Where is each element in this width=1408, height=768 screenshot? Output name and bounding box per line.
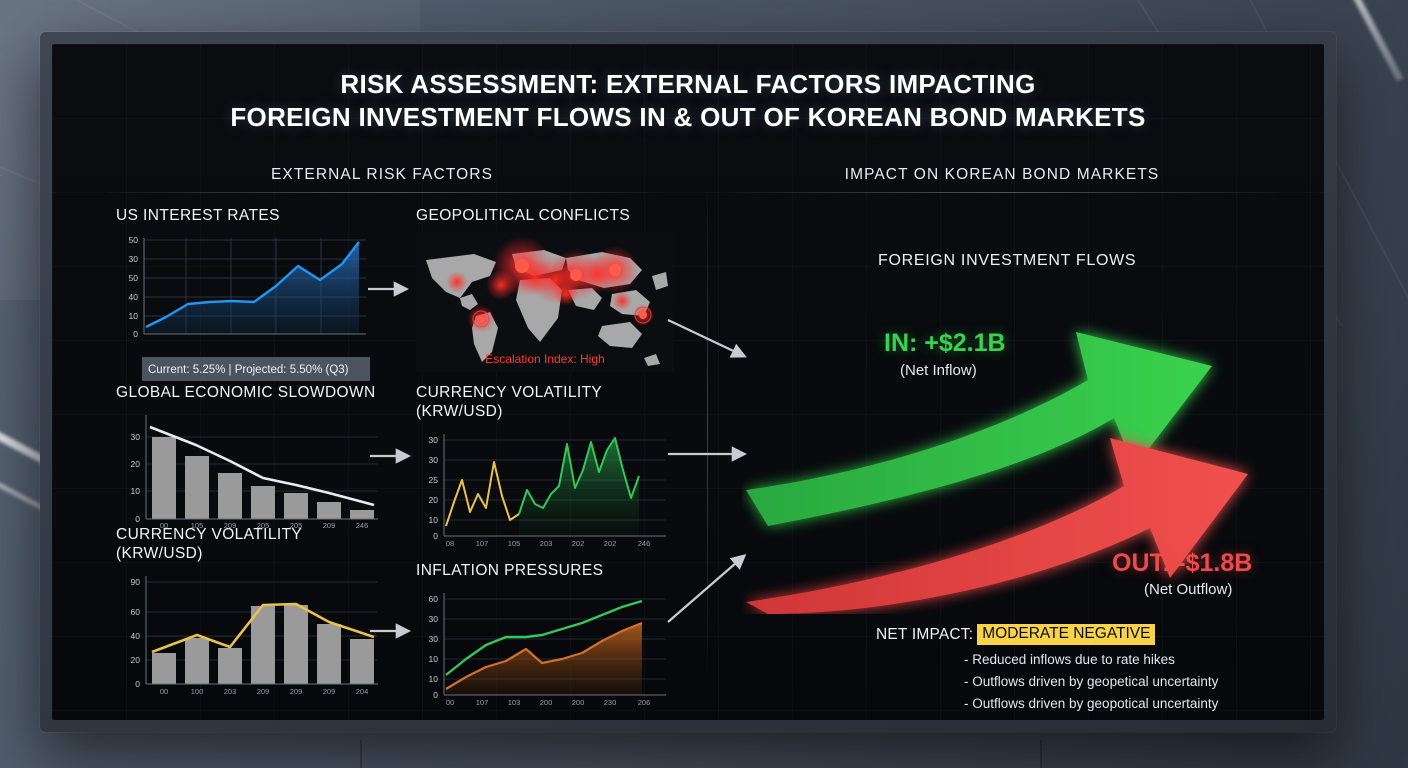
wall-light-strip-right bbox=[1327, 0, 1404, 81]
ytick-2: 10 bbox=[116, 486, 140, 496]
panel-title-currency-volatility-bars: CURRENCY VOLATILITY (KRW/USD) bbox=[116, 526, 396, 564]
title-line-1: RISK ASSESSMENT: EXTERNAL FACTORS IMPACT… bbox=[52, 68, 1324, 101]
xtick-3: 200 bbox=[540, 698, 553, 707]
ytick-3: 0 bbox=[116, 514, 140, 524]
ytick-1: 30 bbox=[116, 254, 138, 264]
chart-currency-volatility-line[interactable]: 30 30 25 20 10 0 08 107 105 203 202 202 … bbox=[416, 428, 674, 556]
panel-geopolitical-conflicts[interactable]: GEOPOLITICAL CONFLICTS bbox=[416, 207, 681, 372]
currency-volatility-bars-svg bbox=[116, 570, 386, 700]
ytick-3: 20 bbox=[116, 655, 140, 665]
ytick-0: 60 bbox=[416, 594, 438, 604]
ytick-4: 10 bbox=[116, 311, 138, 321]
ytick-2: 40 bbox=[116, 631, 140, 641]
title-line-2: FOREIGN INVESTMENT FLOWS IN & OUT OF KOR… bbox=[52, 101, 1324, 134]
inflation-pressures-svg bbox=[416, 587, 674, 715]
xtick-3: 203 bbox=[540, 539, 553, 548]
net-impact-bullet-2: - Outflows driven by geopetical uncertai… bbox=[964, 674, 1218, 689]
panel-currency-volatility-bars[interactable]: CURRENCY VOLATILITY (KRW/USD) bbox=[116, 526, 396, 700]
foreign-investment-flows-label: FOREIGN INVESTMENT FLOWS bbox=[878, 252, 1136, 270]
us-rates-footnote: Current: 5.25% | Projected: 5.50% (Q3) bbox=[142, 357, 370, 381]
panel-title-currency-volatility-line: CURRENCY VOLATILITY (KRW/USD) bbox=[416, 384, 681, 422]
ytick-2: 50 bbox=[116, 273, 138, 283]
chart-global-economic-slowdown[interactable]: 30 20 10 0 00 105 209 205 205 209 246 bbox=[116, 409, 386, 529]
xtick-1: 107 bbox=[476, 698, 489, 707]
ytick-2: 25 bbox=[416, 475, 438, 485]
display-monitor: RISK ASSESSMENT: EXTERNAL FACTORS IMPACT… bbox=[40, 32, 1336, 732]
ytick-5: 0 bbox=[116, 329, 138, 339]
panel-global-economic-slowdown[interactable]: GLOBAL ECONOMIC SLOWDOWN bbox=[116, 384, 396, 529]
escalation-index-annotation: Escalation Index: High bbox=[416, 352, 674, 366]
ytick-0: 90 bbox=[116, 577, 140, 587]
ytick-1: 30 bbox=[416, 455, 438, 465]
xtick-6: 204 bbox=[356, 687, 369, 696]
right-column-header: IMPACT ON KOREAN BOND MARKETS bbox=[722, 166, 1282, 184]
status-badge: MODERATE NEGATIVE bbox=[977, 624, 1155, 645]
ytick-3: 10 bbox=[416, 654, 438, 664]
outflow-caption: (Net Outflow) bbox=[1144, 581, 1232, 598]
world-map-heatmap-svg bbox=[416, 232, 674, 372]
net-impact-row: NET IMPACT: MODERATE NEGATIVE bbox=[876, 624, 1218, 645]
ytick-3: 40 bbox=[116, 292, 138, 302]
inflow-value: IN: +$2.1B bbox=[884, 329, 1006, 358]
xtick-2: 203 bbox=[224, 687, 237, 696]
xtick-0: 00 bbox=[446, 698, 454, 707]
net-impact-bullet-3: - Outflows driven by geopotical uncertai… bbox=[964, 696, 1218, 711]
xtick-5: 209 bbox=[323, 687, 336, 696]
net-impact-label: NET IMPACT: bbox=[876, 626, 973, 644]
panel-inflation-pressures[interactable]: INFLATION PRESSURES bbox=[416, 562, 681, 715]
floor-seam-1 bbox=[360, 740, 362, 768]
xtick-6: 246 bbox=[638, 539, 651, 548]
xtick-4: 200 bbox=[572, 698, 585, 707]
panel-currency-volatility-line[interactable]: CURRENCY VOLATILITY (KRW/USD) bbox=[416, 384, 681, 556]
left-column-header: EXTERNAL RISK FACTORS bbox=[102, 166, 662, 184]
ytick-2: 30 bbox=[416, 634, 438, 644]
infographic-screen: RISK ASSESSMENT: EXTERNAL FACTORS IMPACT… bbox=[52, 44, 1324, 720]
xtick-3: 209 bbox=[257, 687, 270, 696]
panel-title-inflation-pressures: INFLATION PRESSURES bbox=[416, 562, 681, 581]
xtick-2: 103 bbox=[508, 698, 521, 707]
xtick-4: 202 bbox=[572, 539, 585, 548]
xtick-5: 202 bbox=[604, 539, 617, 548]
xtick-6: 206 bbox=[638, 698, 651, 707]
global-slowdown-svg bbox=[116, 409, 386, 529]
chart-inflation-pressures[interactable]: 60 30 30 10 10 0 00 107 103 200 200 230 … bbox=[416, 587, 674, 715]
ytick-0: 30 bbox=[116, 432, 140, 442]
ytick-1: 20 bbox=[116, 459, 140, 469]
currency-volatility-line-svg bbox=[416, 428, 674, 556]
ytick-5: 0 bbox=[416, 690, 438, 700]
panel-title-global-economic-slowdown: GLOBAL ECONOMIC SLOWDOWN bbox=[116, 384, 396, 403]
ytick-3: 20 bbox=[416, 495, 438, 505]
xtick-4: 209 bbox=[290, 687, 303, 696]
xtick-0: 00 bbox=[160, 687, 168, 696]
inflow-caption: (Net Inflow) bbox=[900, 362, 977, 379]
outflow-value: OUT: -$1.8B bbox=[1112, 549, 1252, 578]
page-title: RISK ASSESSMENT: EXTERNAL FACTORS IMPACT… bbox=[52, 68, 1324, 135]
column-divider bbox=[707, 174, 708, 684]
ytick-1: 60 bbox=[116, 607, 140, 617]
xtick-1: 107 bbox=[476, 539, 489, 548]
xtick-2: 105 bbox=[508, 539, 521, 548]
ytick-5: 0 bbox=[416, 531, 438, 541]
ytick-0: 50 bbox=[116, 235, 138, 245]
ytick-0: 30 bbox=[416, 435, 438, 445]
chart-us-interest-rates[interactable]: 50 30 50 40 10 0 bbox=[116, 232, 370, 344]
net-impact-block: NET IMPACT: MODERATE NEGATIVE - Reduced … bbox=[876, 624, 1218, 711]
ytick-4: 10 bbox=[416, 515, 438, 525]
chart-currency-volatility-bars[interactable]: 90 60 40 20 0 00 100 203 209 209 209 204 bbox=[116, 570, 386, 700]
chart-geopolitical-conflicts[interactable]: Escalation Index: High bbox=[416, 232, 674, 372]
ytick-4: 0 bbox=[116, 679, 140, 689]
net-impact-bullet-1: - Reduced inflows due to rate hikes bbox=[964, 652, 1218, 667]
xtick-1: 100 bbox=[191, 687, 204, 696]
right-header-rule bbox=[728, 192, 1278, 193]
us-interest-rates-svg bbox=[116, 232, 370, 344]
panel-us-interest-rates[interactable]: US INTEREST RATES bbox=[116, 207, 376, 344]
ytick-4: 10 bbox=[416, 674, 438, 684]
ytick-1: 30 bbox=[416, 614, 438, 624]
panel-title-geopolitical-conflicts: GEOPOLITICAL CONFLICTS bbox=[416, 207, 681, 226]
floor-seam-2 bbox=[1040, 740, 1042, 768]
xtick-5: 230 bbox=[604, 698, 617, 707]
xtick-0: 08 bbox=[446, 539, 454, 548]
panel-title-us-interest-rates: US INTEREST RATES bbox=[116, 207, 376, 226]
us-rates-footnote-text: Current: 5.25% | Projected: 5.50% (Q3) bbox=[148, 364, 349, 376]
left-header-rule bbox=[108, 192, 658, 193]
